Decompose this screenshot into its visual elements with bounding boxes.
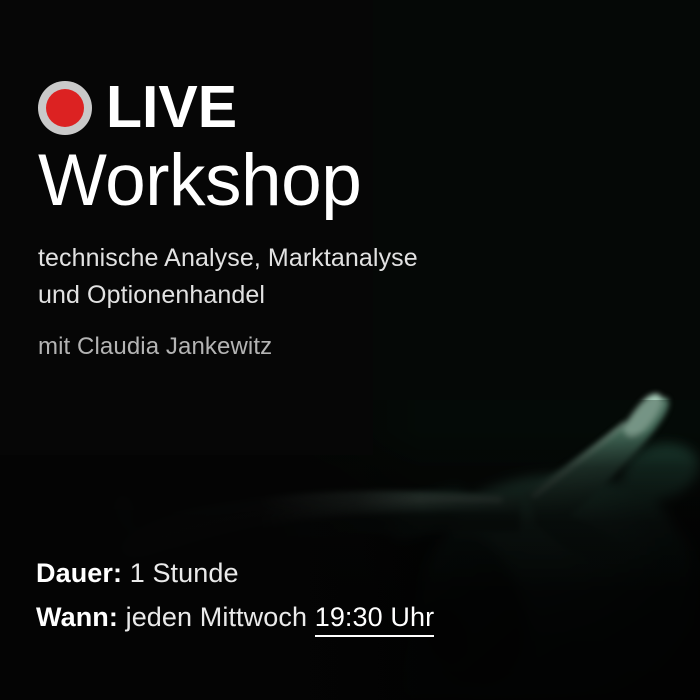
subtitle-line-2: und Optionenhandel: [38, 277, 418, 314]
subtitle-line-1: technische Analyse, Marktanalyse: [38, 240, 418, 277]
fact-schedule-time: 19:30 Uhr: [315, 602, 434, 637]
promo-poster: LIVE Workshop technische Analyse, Markta…: [0, 0, 700, 700]
fact-duration-label: Dauer:: [36, 558, 122, 588]
live-label: LIVE: [106, 78, 237, 137]
fact-duration: Dauer: 1 Stunde: [36, 552, 434, 596]
live-badge: LIVE: [38, 78, 237, 137]
fact-schedule: Wann: jeden Mittwoch 19:30 Uhr: [36, 596, 434, 640]
fact-schedule-value: jeden Mittwoch: [126, 602, 308, 632]
fact-duration-value: 1 Stunde: [130, 558, 239, 588]
poster-content: LIVE Workshop technische Analyse, Markta…: [0, 0, 700, 700]
presenter-name: mit Claudia Jankewitz: [38, 333, 272, 361]
poster-facts: Dauer: 1 Stunde Wann: jeden Mittwoch 19:…: [36, 552, 434, 639]
poster-title: Workshop: [38, 142, 361, 221]
live-record-dot-icon: [38, 81, 92, 135]
live-record-dot-inner: [46, 89, 84, 127]
poster-subtitle: technische Analyse, Marktanalyse und Opt…: [38, 240, 418, 314]
fact-schedule-label: Wann:: [36, 602, 118, 632]
